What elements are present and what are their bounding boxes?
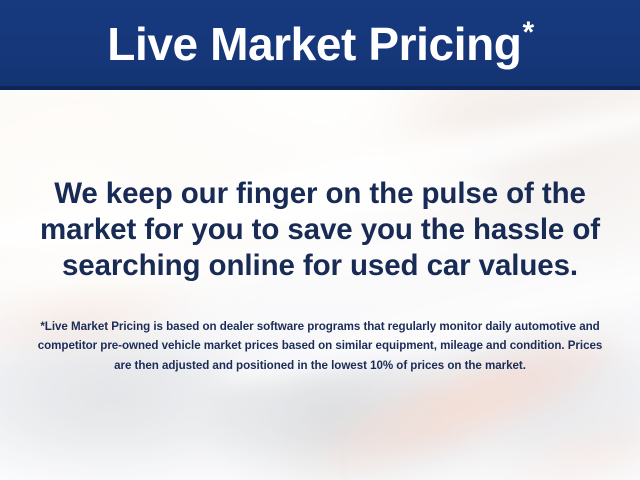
header-banner-inner: Live Market Pricing*	[0, 0, 640, 86]
header-banner-bottom-rule	[0, 86, 640, 90]
page-title-asterisk: *	[522, 16, 533, 49]
header-banner: Live Market Pricing*	[0, 0, 640, 90]
page-title-text: Live Market Pricing	[107, 18, 521, 70]
live-market-pricing-slide: Live Market Pricing* We keep our finger …	[0, 0, 640, 480]
disclaimer-text: *Live Market Pricing is based on dealer …	[28, 317, 612, 375]
headline-text: We keep our finger on the pulse of the m…	[20, 176, 620, 284]
page-title: Live Market Pricing*	[107, 21, 533, 67]
